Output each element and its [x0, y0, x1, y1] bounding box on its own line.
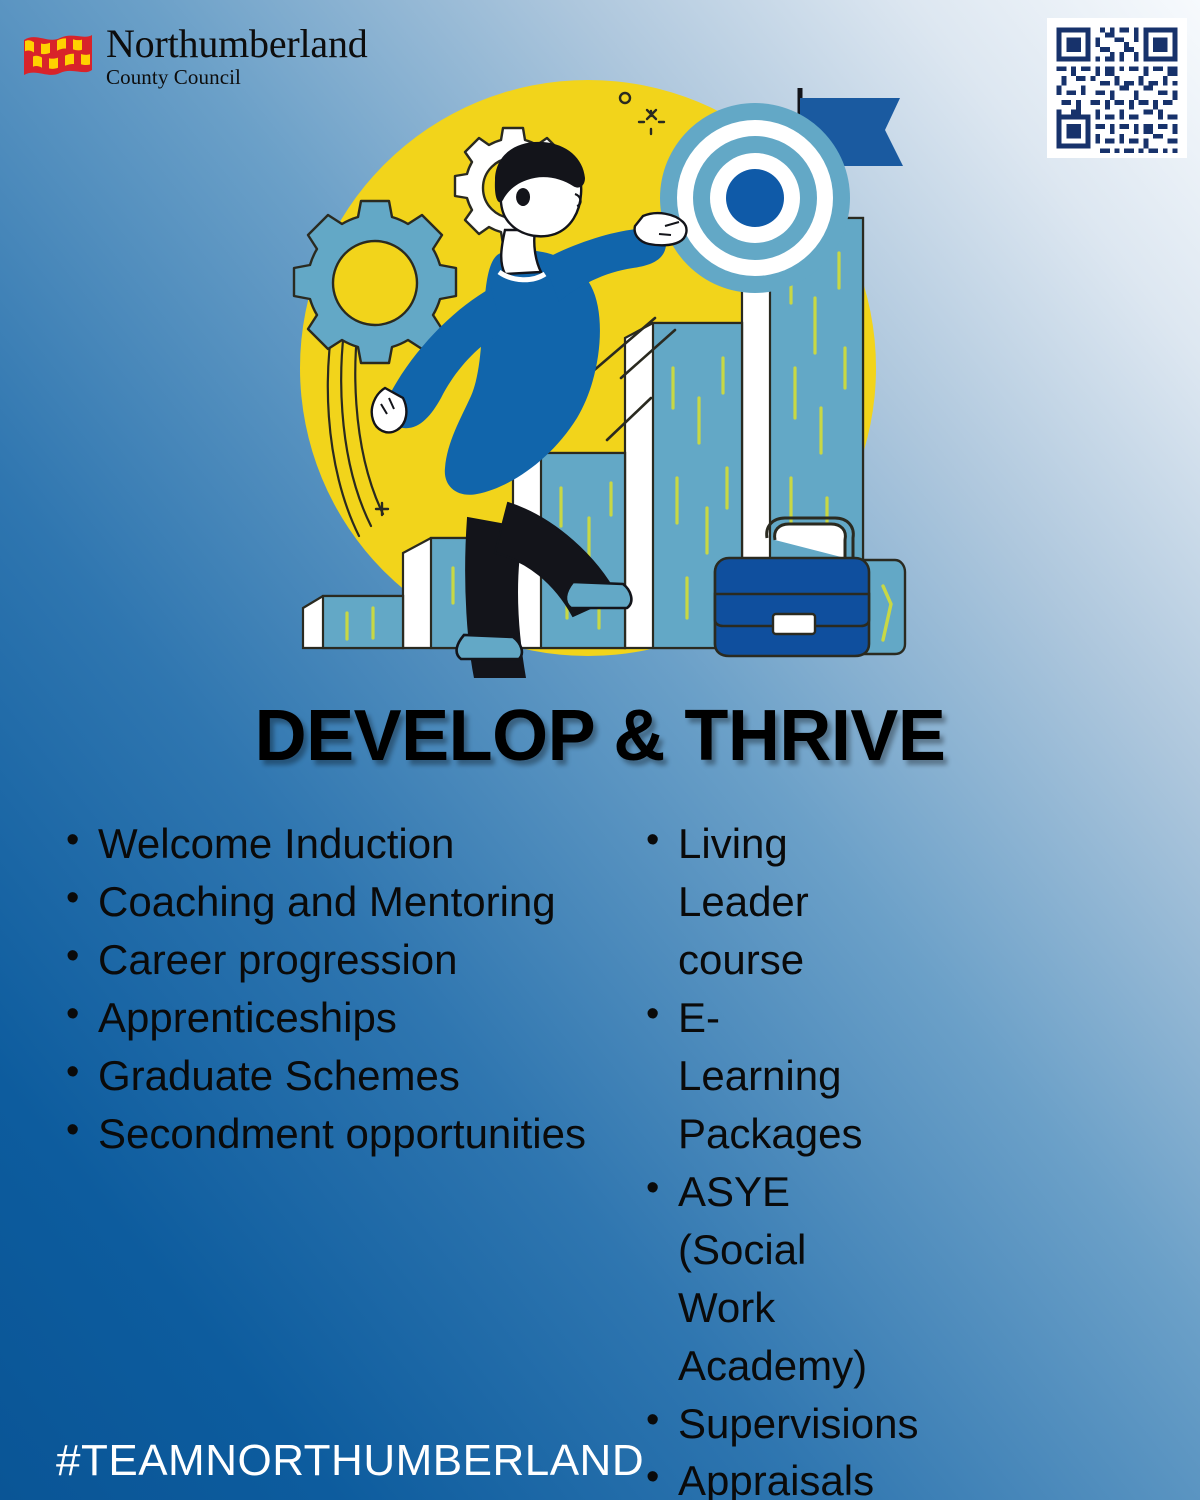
list-item: Secondment opportunities — [60, 1105, 590, 1163]
benefits-list-left: Welcome Induction Coaching and Mentoring… — [60, 815, 590, 1163]
list-item: Graduate Schemes — [60, 1047, 590, 1105]
hashtag-label: #TEAMNORTHUMBERLAND — [56, 1436, 644, 1486]
illustration-svg — [255, 48, 915, 678]
list-item: ASYE (Social Work Academy) — [640, 1163, 678, 1395]
list-item: Welcome Induction — [60, 815, 590, 873]
bullseye-target-icon — [660, 103, 850, 293]
list-item: Appraisals — [640, 1452, 678, 1500]
list-item: Coaching and Mentoring — [60, 873, 590, 931]
page-title: DEVELOP & THRIVE — [0, 700, 1200, 772]
list-item: Career progression — [60, 931, 590, 989]
northumberland-flag-icon — [22, 30, 94, 86]
list-item: Supervisions — [640, 1395, 678, 1453]
list-item: Living Leader course — [640, 815, 678, 989]
benefits-columns: Welcome Induction Coaching and Mentoring… — [0, 815, 1200, 1500]
list-item: Apprenticeships — [60, 989, 590, 1047]
qr-code-matrix — [1047, 18, 1187, 158]
qr-code-icon[interactable] — [1047, 18, 1187, 158]
career-growth-illustration — [255, 48, 915, 678]
benefits-column-left: Welcome Induction Coaching and Mentoring… — [0, 815, 600, 1163]
list-item: E-Learning Packages — [640, 989, 678, 1163]
poster-canvas: Northumberland County Council — [0, 0, 1200, 1500]
